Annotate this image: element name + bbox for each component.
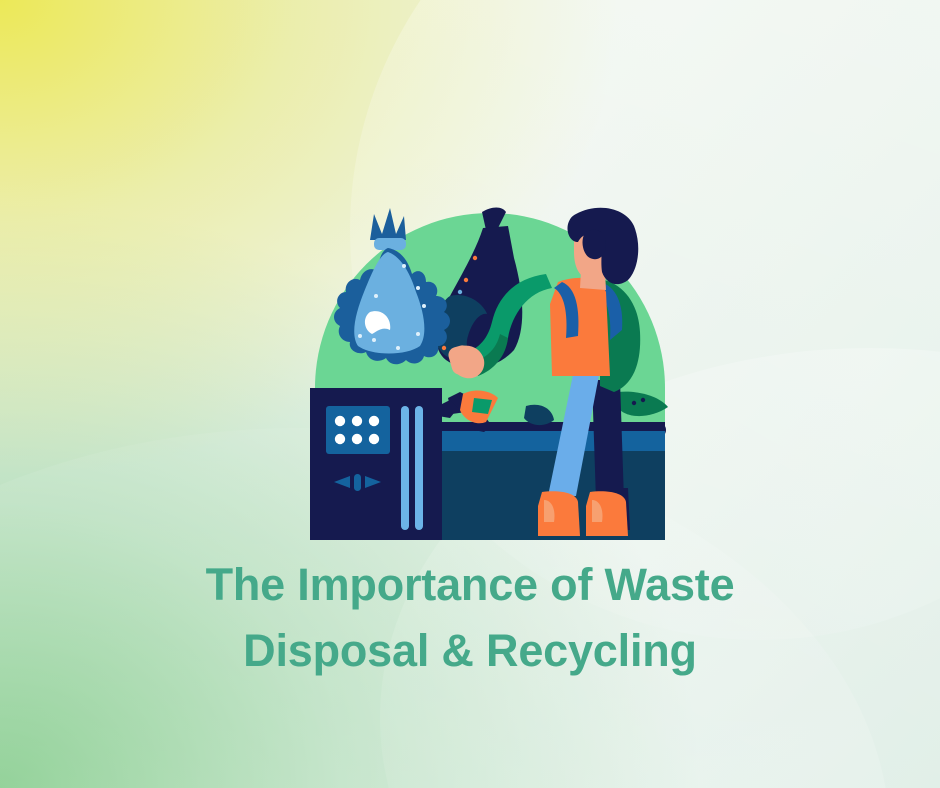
waste-disposal-recycling-illustration [300,200,680,540]
machine-indicator-bar-right [415,406,423,530]
page-title: The Importance of Waste Disposal & Recyc… [0,552,940,684]
page-title-line-2: Disposal & Recycling [0,618,940,684]
machine-control-panel[interactable] [326,406,390,454]
machine-indicator-bar-left [401,406,409,530]
compactor-machine[interactable] [310,388,442,540]
page-title-line-1: The Importance of Waste [0,552,940,618]
poster-canvas: The Importance of Waste Disposal & Recyc… [0,0,940,788]
